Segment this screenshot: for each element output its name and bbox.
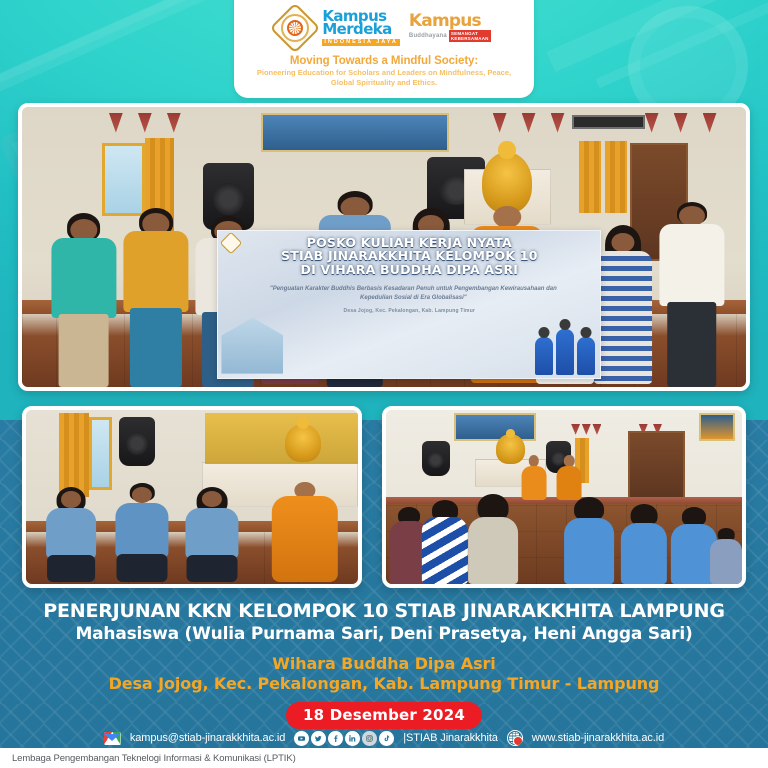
person-monk <box>521 455 546 500</box>
students-seated-with-monk-photo <box>22 406 362 588</box>
curtain-right-a <box>579 141 601 214</box>
br-photo-scene <box>386 410 742 584</box>
person <box>659 202 724 387</box>
caption-block: PENERJUNAN KKN KELOMPOK 10 STIAB JINARAK… <box>0 600 768 729</box>
person-student <box>621 504 667 584</box>
speaker-left <box>422 441 450 476</box>
header-tagline: Moving Towards a Mindful Society: <box>244 55 524 67</box>
person <box>468 494 518 584</box>
caption-title: PENERJUNAN KKN KELOMPOK 10 STIAB JINARAK… <box>0 600 768 622</box>
footer-strip-text: Lembaga Pengembangan Teknelogi Informasi… <box>12 753 296 764</box>
banner-title-line2: STIAB JINARAKKHITA KELOMPOK 10 <box>222 249 596 262</box>
speaker <box>119 417 156 466</box>
logo-row: Kampus Merdeka INDONESIA JAYA Kampus Bud… <box>244 8 524 48</box>
youtube-icon[interactable] <box>294 731 309 746</box>
twitter-icon[interactable] <box>311 731 326 746</box>
linkedin-icon[interactable] <box>345 731 360 746</box>
caption-address: Desa Jojog, Kec. Pekalongan, Kab. Lampun… <box>0 674 768 693</box>
contact-email[interactable]: kampus@stiab-jinarakkhita.ac.id <box>130 732 285 744</box>
stiab-jinarakkhita-seal-icon <box>277 10 313 46</box>
altar-offerings <box>205 413 358 463</box>
kampus-buddhayana-logo: Kampus Buddhayana SEMANGAT KEBERSAMAAN <box>409 14 491 43</box>
gmail-icon <box>104 732 121 745</box>
person-student <box>564 497 614 584</box>
poster-canvas: Kampus Merdeka INDONESIA JAYA Kampus Bud… <box>0 0 768 768</box>
banner-title-line3: DI VIHARA BUDDHA DIPA ASRI <box>222 263 596 276</box>
bl-photo-scene <box>26 410 358 584</box>
buddha-statue <box>285 424 322 462</box>
window <box>102 143 145 216</box>
kkn-banner: POSKO KULIAH KERJA NYATA STIAB JINARAKKH… <box>217 230 601 378</box>
kampus-merdeka-tagline: INDONESIA JAYA <box>322 39 400 46</box>
main-photo-scene: POSKO KULIAH KERJA NYATA STIAB JINARAKKH… <box>22 107 746 387</box>
person <box>123 208 188 387</box>
header-subtagline: Pioneering Education for Scholars and Le… <box>244 68 524 88</box>
window <box>89 417 112 490</box>
person <box>710 528 742 584</box>
caption-venue: Wihara Buddha Dipa Asri <box>0 654 768 673</box>
person <box>51 213 116 387</box>
badge-line2: KEBERSAMAAN <box>451 36 489 41</box>
date-badge: 18 Desember 2024 <box>286 702 482 729</box>
doorway <box>628 431 685 501</box>
facebook-icon[interactable] <box>328 731 343 746</box>
banner-graduates-illustration <box>535 317 597 375</box>
person-student <box>116 483 169 584</box>
curtain-right-b <box>605 141 627 214</box>
dharma-session-photo <box>382 406 746 588</box>
social-icons <box>294 731 394 746</box>
caption-students: Mahasiswa (Wulia Purnama Sari, Deni Pras… <box>0 624 768 644</box>
kampus-buddhayana-badge: SEMANGAT KEBERSAMAAN <box>449 30 491 42</box>
social-handle: |STIAB Jinarakkhita <box>403 732 498 744</box>
kampus-buddhayana-sub: Buddhayana <box>409 34 447 40</box>
contact-bar: kampus@stiab-jinarakkhita.ac.id |STIAB J… <box>0 727 768 749</box>
instagram-icon[interactable] <box>362 731 377 746</box>
person <box>422 500 468 584</box>
website-globe-icon <box>507 730 523 746</box>
curtain <box>59 413 89 497</box>
pennant-decorations <box>386 424 742 438</box>
kampus-merdeka-logo: Kampus Merdeka INDONESIA JAYA <box>322 10 400 47</box>
person-student <box>46 487 96 584</box>
footer-strip: Lembaga Pengembangan Teknelogi Informasi… <box>0 748 768 768</box>
banner-location: Desa Jojog, Kec. Pekalongan, Kab. Lampun… <box>222 308 596 314</box>
kampus-merdeka-line2: Merdeka <box>322 23 400 37</box>
tiktok-icon[interactable] <box>379 731 394 746</box>
pennant-decorations <box>22 113 746 138</box>
group-photo-with-banner: POSKO KULIAH KERJA NYATA STIAB JINARAKKH… <box>18 103 750 391</box>
person-student <box>185 487 238 584</box>
contact-website[interactable]: www.stiab-jinarakkhita.ac.id <box>532 732 664 744</box>
person-monk <box>272 480 338 584</box>
banner-vihara-illustration <box>221 318 283 374</box>
person-monk <box>557 455 582 500</box>
banner-quote: "Penguatan Karakter Buddhis Berbasis Kes… <box>222 285 596 302</box>
person <box>594 225 652 387</box>
kampus-buddhayana-line1: Kampus <box>409 14 491 30</box>
header-card: Kampus Merdeka INDONESIA JAYA Kampus Bud… <box>234 0 534 98</box>
